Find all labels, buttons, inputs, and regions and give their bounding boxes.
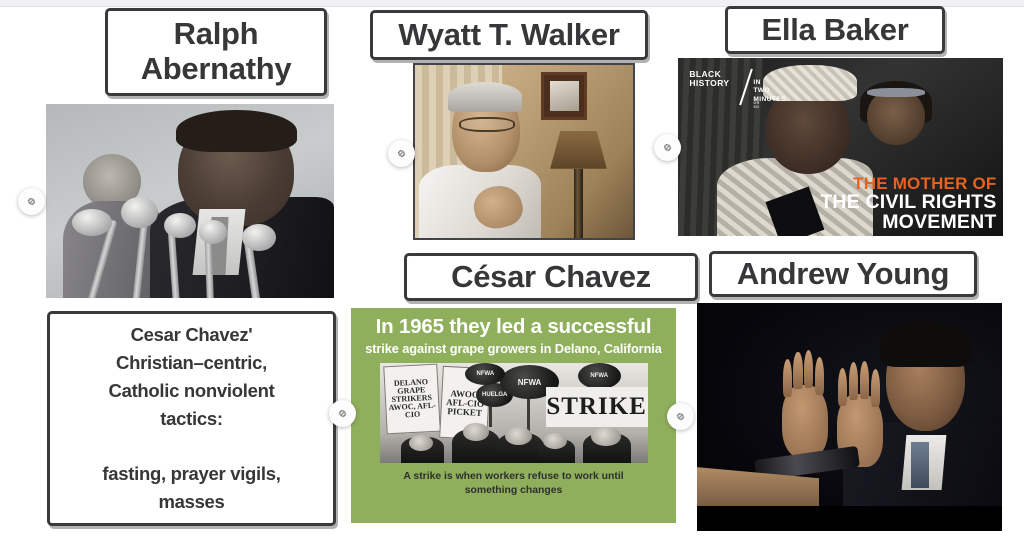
link-icon: [394, 146, 409, 161]
logo-line-1: BLACK HISTORY: [689, 70, 729, 88]
strike-banner-text: STRIKE: [546, 393, 646, 421]
card-title-chavez-text: César Chavez: [451, 260, 651, 295]
image-ella-baker[interactable]: BLACK HISTORY IN TWO MINUTES OR SO THE M…: [678, 58, 1003, 236]
image-ralph-abernathy[interactable]: [46, 104, 334, 298]
microphone-head-1: [72, 209, 112, 236]
protest-disc-text: NFWA: [518, 378, 542, 387]
finger: [849, 362, 858, 400]
card-notes-chavez[interactable]: Cesar Chavez' Christian–centric, Catholi…: [47, 311, 336, 526]
slide-caption: A strike is when workers refuse to work …: [358, 470, 669, 498]
image-andrew-young[interactable]: [697, 303, 1002, 531]
card-title-chavez[interactable]: César Chavez: [404, 253, 698, 301]
finger: [793, 352, 802, 390]
link-icon: [335, 406, 350, 421]
lamp-post: [574, 169, 583, 238]
overlay-line-2: THE CIVIL RIGHTS: [820, 193, 996, 213]
card-title-baker-text: Ella Baker: [762, 13, 909, 48]
card-title-young[interactable]: Andrew Young: [709, 251, 977, 297]
protest-disc-text: NFWA: [590, 373, 608, 379]
protest-sign-delano: DELANO GRAPE STRIKERS AWOC, AFL-CIO: [383, 364, 440, 435]
crowd-face: [591, 427, 620, 446]
framed-picture: [541, 72, 587, 120]
logo-line-3: OR SO: [753, 102, 759, 110]
card-title-abernathy-text: Ralph Abernathy: [141, 17, 292, 86]
slide-photo: DELANO GRAPE STRIKERS AWOC, AFL-CIO AWOC…: [380, 363, 648, 463]
microphone-head-3: [164, 213, 196, 238]
card-notes-chavez-text: Cesar Chavez' Christian–centric, Catholi…: [102, 321, 280, 515]
link-chip-baker[interactable]: [654, 134, 681, 161]
card-title-baker[interactable]: Ella Baker: [725, 6, 945, 54]
logo-line-2: IN TWO MINUTES: [753, 79, 785, 103]
photo-letterbox-bar: [697, 506, 1002, 531]
slide-heading: In 1965 they led a successful: [358, 316, 669, 337]
protest-disc-nfwa-3: NFWA: [578, 363, 621, 389]
microphone-head-4: [199, 220, 228, 243]
figure-glasses: [459, 117, 516, 133]
primary-figure-hair: [176, 110, 297, 153]
link-chip-walker[interactable]: [388, 140, 415, 167]
link-chip-abernathy[interactable]: [18, 188, 45, 215]
link-chip-chavez-notes[interactable]: [329, 400, 356, 427]
whiteboard-canvas[interactable]: Ralph Abernathy Wyatt T. Walker: [0, 0, 1024, 543]
image-caption-overlay: THE MOTHER OF THE CIVIL RIGHTS MOVEMENT: [820, 175, 996, 232]
image-chavez-strike-slide[interactable]: In 1965 they led a successful strike aga…: [351, 308, 676, 523]
card-title-walker-text: Wyatt T. Walker: [398, 18, 619, 53]
strike-banner: STRIKE: [546, 387, 648, 427]
finger: [871, 369, 880, 407]
protest-sign-text: DELANO GRAPE STRIKERS AWOC, AFL-CIO: [387, 378, 437, 420]
link-icon: [673, 409, 688, 424]
overlay-line-3: MOVEMENT: [820, 213, 996, 233]
figure-hair: [880, 321, 972, 367]
slide-subheading: strike against grape growers in Delano, …: [358, 341, 669, 356]
figure-hand-left: [782, 385, 828, 458]
card-title-walker[interactable]: Wyatt T. Walker: [370, 10, 648, 60]
card-title-abernathy[interactable]: Ralph Abernathy: [105, 8, 327, 96]
figure-tie: [911, 442, 929, 488]
secondary-figure-headband: [867, 88, 926, 97]
link-icon: [24, 194, 39, 209]
protest-disc-text: HUELGA: [482, 392, 507, 398]
link-icon: [660, 140, 675, 155]
figure-hair: [448, 82, 522, 111]
image-wyatt-t-walker[interactable]: [413, 63, 635, 240]
protest-disc-text: NFWA: [477, 371, 495, 377]
link-chip-chavez-slide[interactable]: [667, 403, 694, 430]
card-title-young-text: Andrew Young: [737, 257, 949, 292]
black-history-logo: BLACK HISTORY IN TWO MINUTES OR SO: [689, 70, 729, 88]
framed-picture-inner: [550, 81, 579, 112]
